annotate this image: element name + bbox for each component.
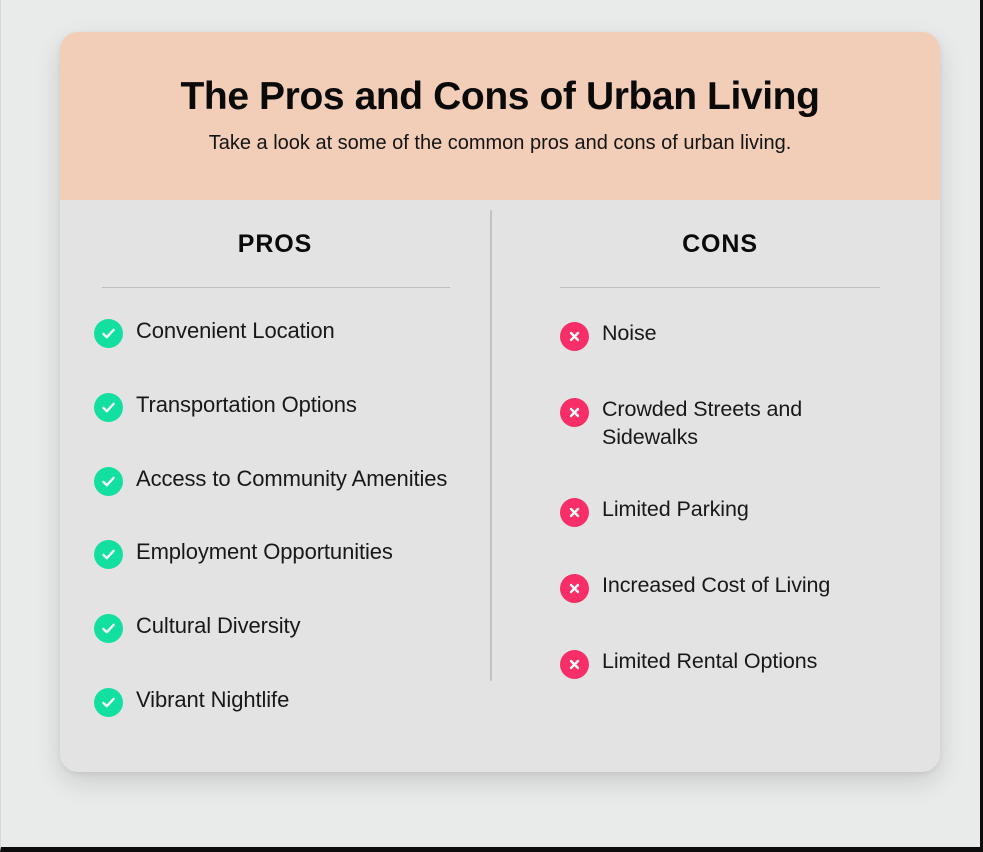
list-item[interactable]: Limited Parking — [560, 496, 900, 527]
check-circle-icon — [94, 467, 123, 496]
column-cons: CONS Noise — [500, 232, 940, 744]
list-item-label: Cultural Diversity — [136, 612, 300, 640]
column-heading-pros: PROS — [94, 232, 450, 257]
list-item[interactable]: Employment Opportunities — [94, 538, 450, 569]
column-heading-cons: CONS — [560, 232, 900, 257]
x-circle-icon — [560, 322, 589, 351]
card-header: The Pros and Cons of Urban Living Take a… — [60, 32, 940, 200]
list-item-label: Increased Cost of Living — [602, 572, 830, 600]
list-item-label: Convenient Location — [136, 317, 335, 345]
list-item-label: Transportation Options — [136, 391, 357, 419]
check-circle-icon — [94, 614, 123, 643]
column-divider — [490, 210, 492, 681]
list-item[interactable]: Transportation Options — [94, 391, 450, 422]
list-item[interactable]: Noise — [560, 320, 900, 351]
list-item-label: Limited Parking — [602, 496, 749, 524]
x-circle-icon — [560, 398, 589, 427]
list-item-label: Limited Rental Options — [602, 648, 817, 676]
list-item[interactable]: Limited Rental Options — [560, 648, 900, 679]
list-item-label: Noise — [602, 320, 656, 348]
check-circle-icon — [94, 540, 123, 569]
column-pros: PROS Convenient Location — [60, 232, 500, 744]
check-circle-icon — [94, 393, 123, 422]
check-circle-icon — [94, 688, 123, 717]
pros-cons-card: The Pros and Cons of Urban Living Take a… — [60, 32, 940, 772]
list-item-label: Access to Community Amenities — [136, 465, 447, 493]
card-body: PROS Convenient Location — [60, 200, 940, 772]
list-item-label: Vibrant Nightlife — [136, 686, 289, 714]
page-title: The Pros and Cons of Urban Living — [180, 76, 819, 119]
list-item-label: Employment Opportunities — [136, 538, 393, 566]
check-circle-icon — [94, 319, 123, 348]
x-circle-icon — [560, 650, 589, 679]
list-item[interactable]: Crowded Streets and Sidewalks — [560, 396, 900, 451]
x-circle-icon — [560, 574, 589, 603]
x-circle-icon — [560, 498, 589, 527]
cons-list: Noise Crowded Streets and Sidewalks — [560, 288, 900, 744]
list-item[interactable]: Access to Community Amenities — [94, 465, 450, 496]
list-item[interactable]: Vibrant Nightlife — [94, 686, 450, 717]
list-item[interactable]: Convenient Location — [94, 317, 450, 348]
page-stage: The Pros and Cons of Urban Living Take a… — [0, 0, 983, 852]
pros-list: Convenient Location Transportation Optio… — [94, 288, 450, 744]
list-item-label: Crowded Streets and Sidewalks — [602, 396, 900, 451]
list-item[interactable]: Cultural Diversity — [94, 612, 450, 643]
list-item[interactable]: Increased Cost of Living — [560, 572, 900, 603]
page-subtitle: Take a look at some of the common pros a… — [209, 131, 792, 156]
